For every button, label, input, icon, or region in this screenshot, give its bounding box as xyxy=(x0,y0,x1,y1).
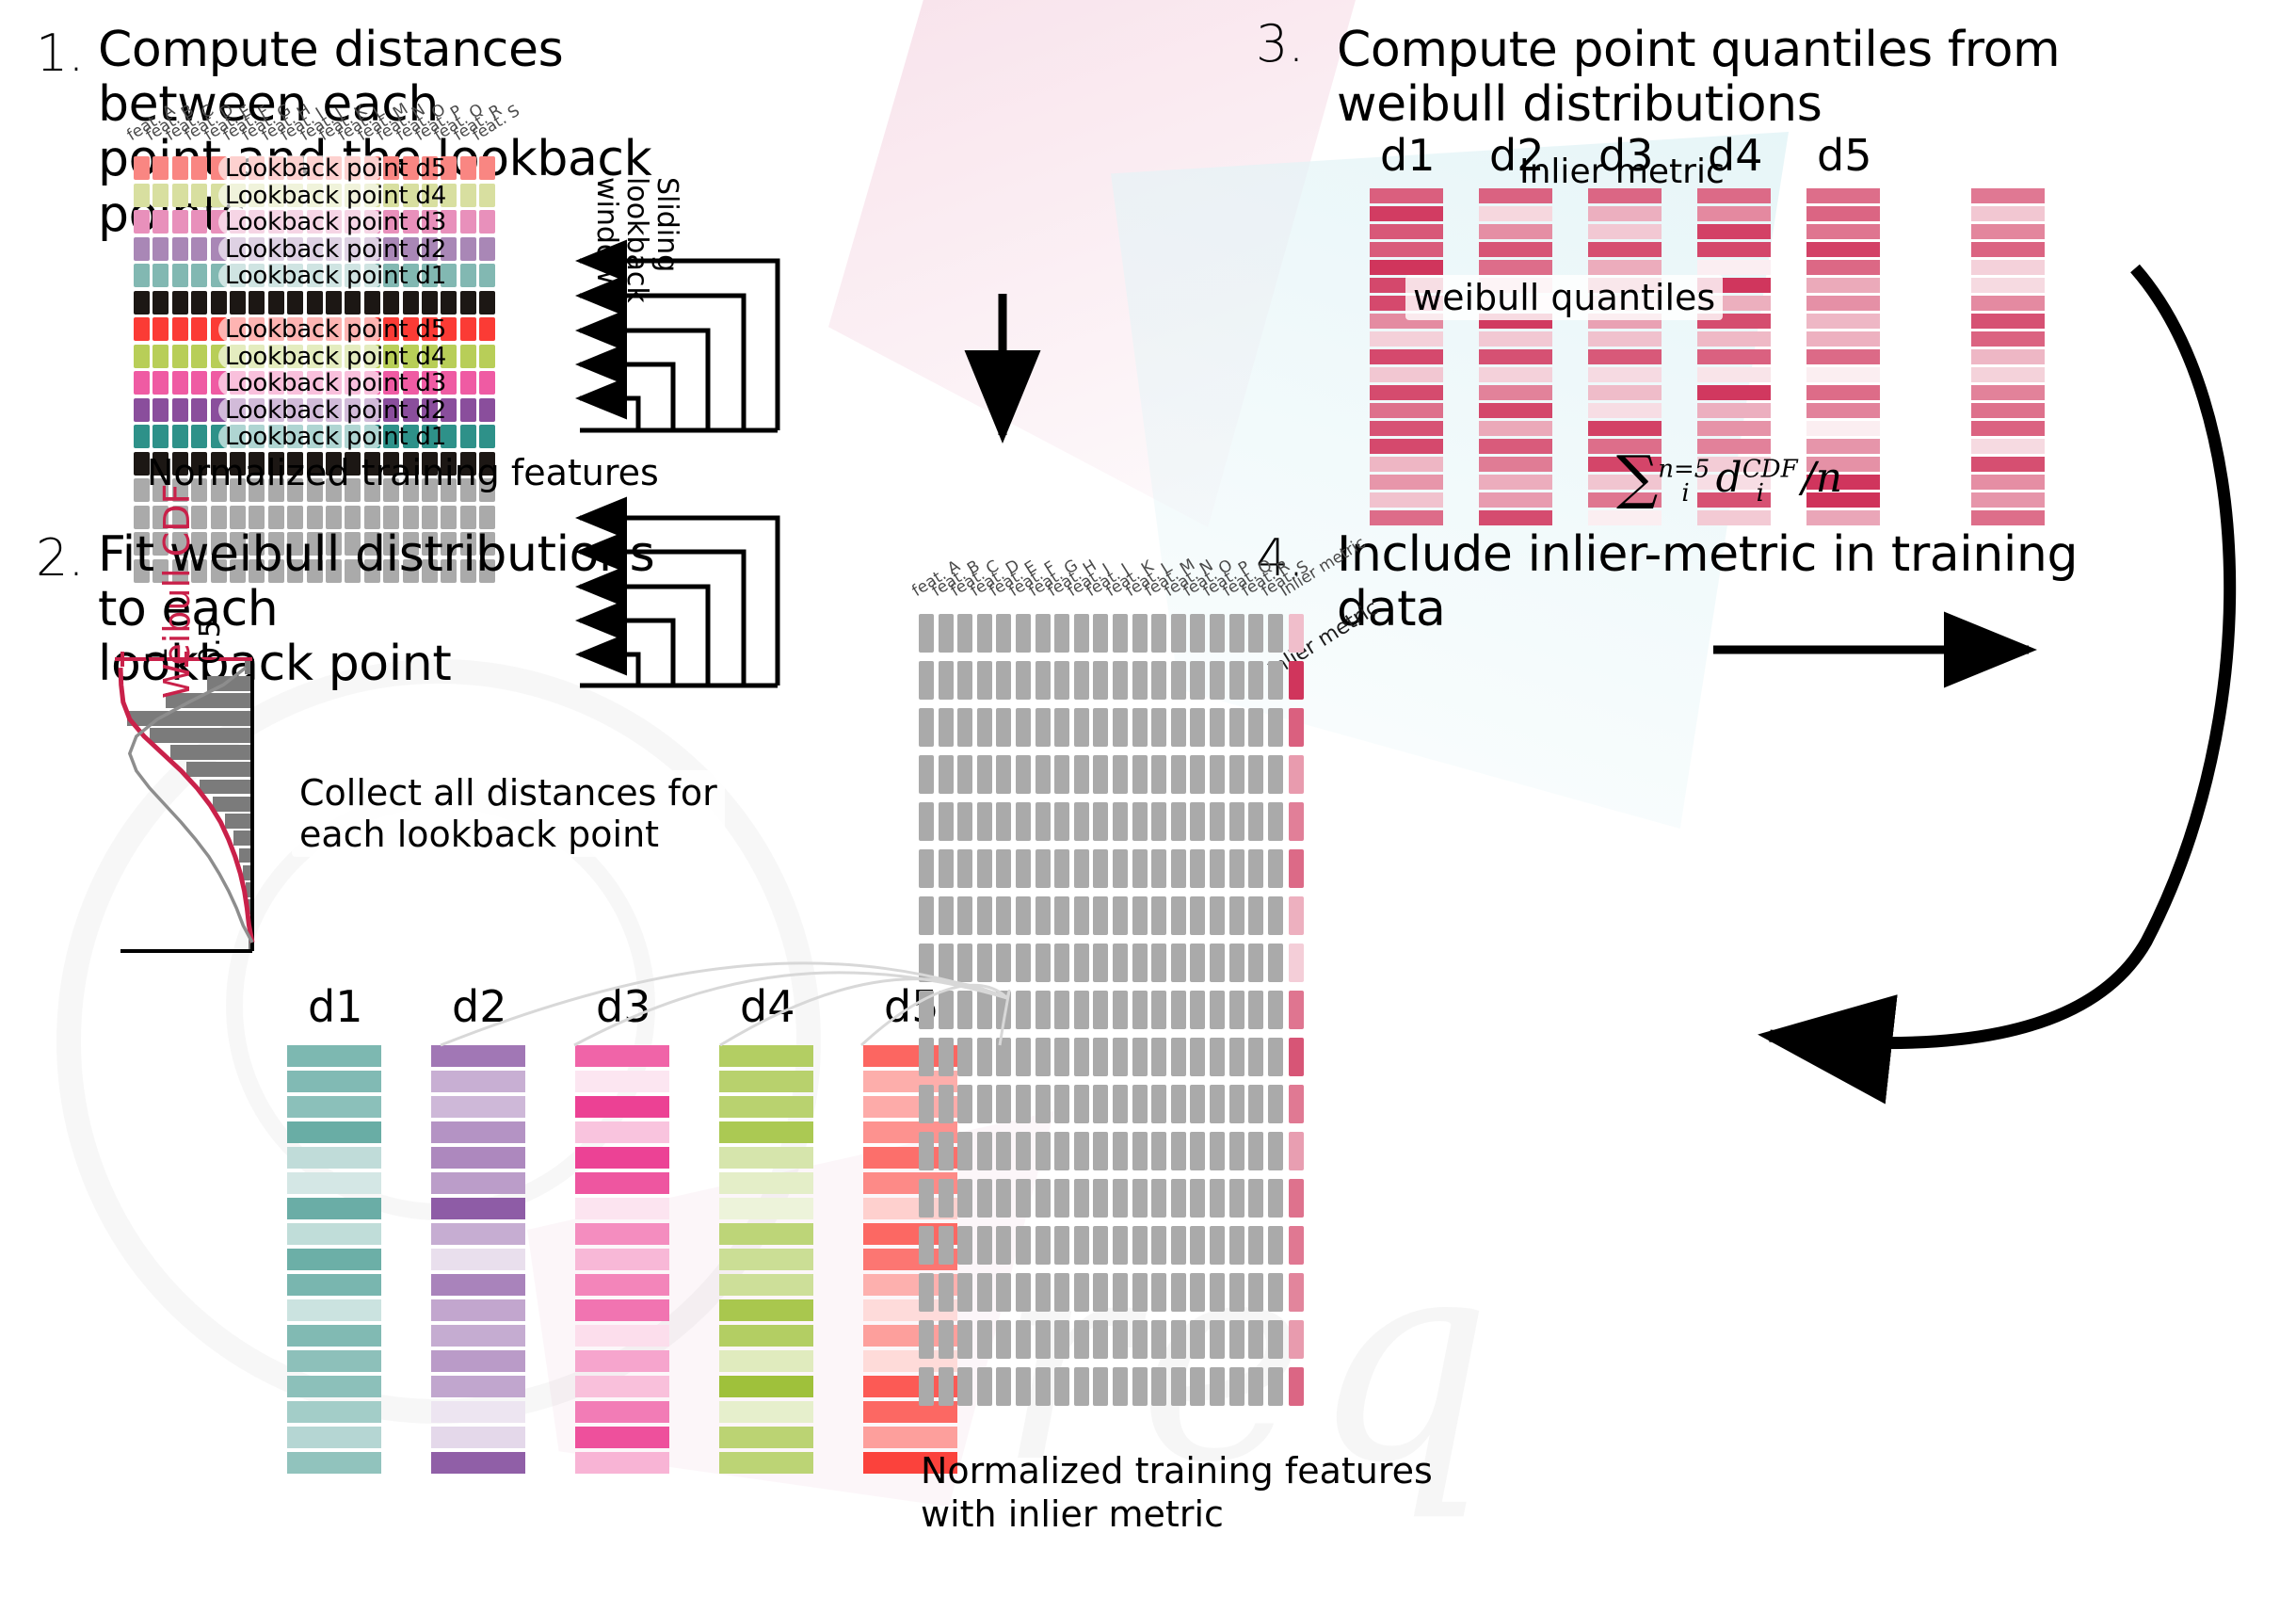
grid-cell xyxy=(996,708,1011,747)
distance-cell xyxy=(863,1427,957,1448)
distance-cell xyxy=(287,1121,381,1143)
grid-cell xyxy=(1268,1273,1283,1312)
quantile-cell xyxy=(1697,385,1771,400)
grid-cell xyxy=(977,614,992,653)
grid-cell xyxy=(957,708,972,747)
grid-cell xyxy=(919,991,934,1029)
grid-cell xyxy=(977,1132,992,1170)
grid-cell xyxy=(957,991,972,1029)
grid-cell xyxy=(1113,1320,1128,1359)
grid-cell xyxy=(939,1085,954,1123)
grid-cell xyxy=(460,264,476,287)
grid-cell xyxy=(1093,849,1108,888)
grid-cell xyxy=(919,944,934,982)
inlier-metric-cell xyxy=(1289,1226,1304,1265)
grid-cell xyxy=(1248,1179,1263,1218)
grid-cell xyxy=(191,425,207,448)
inlier-metric-cell xyxy=(1289,944,1304,982)
grid-cell xyxy=(1248,1038,1263,1076)
grid-cell xyxy=(957,614,972,653)
grid-cell xyxy=(1113,1038,1128,1076)
grid-cell xyxy=(939,1038,954,1076)
grid-cell xyxy=(1036,944,1051,982)
lookback-point-label: Lookback point d4 xyxy=(225,182,446,210)
grid-cell xyxy=(1074,661,1089,700)
grid-cell xyxy=(153,371,169,395)
panel4-feature-labels: feat. Afeat. Bfeat. Cfeat. Dfeat. Efeat.… xyxy=(919,542,1295,601)
distance-cell xyxy=(575,1427,669,1448)
quantile-cell xyxy=(1588,403,1662,418)
lookback-point-label: Lookback point d1 xyxy=(225,262,446,290)
grid-cell xyxy=(957,661,972,700)
grid-cell xyxy=(1268,944,1283,982)
lookback-point-label: Lookback point d4 xyxy=(225,343,446,371)
grid-cell xyxy=(211,291,227,315)
lookback-point-label: Lookback point d3 xyxy=(225,208,446,236)
grid-cell xyxy=(1190,614,1205,653)
grid-cell xyxy=(957,1085,972,1123)
grid-cell xyxy=(1113,1226,1128,1265)
grid-cell xyxy=(957,1226,972,1265)
grid-cell xyxy=(1093,1085,1108,1123)
grid-cell xyxy=(191,237,207,261)
grid-cell xyxy=(939,991,954,1029)
distance-cell xyxy=(575,1376,669,1397)
grid-cell xyxy=(939,944,954,982)
grid-cell xyxy=(1151,1085,1166,1123)
inlier-metric-cell xyxy=(1971,349,2045,364)
grid-cell xyxy=(1093,755,1108,794)
grid-cell xyxy=(1074,1226,1089,1265)
grid-cell xyxy=(939,1320,954,1359)
grid-cell xyxy=(1074,755,1089,794)
grid-cell xyxy=(996,1179,1011,1218)
grid-cell xyxy=(1113,944,1128,982)
grid-cell xyxy=(1036,661,1051,700)
grid-cell xyxy=(134,371,150,395)
grid-cell xyxy=(919,802,934,841)
grid-cell xyxy=(1229,1226,1244,1265)
grid-cell xyxy=(996,849,1011,888)
grid-cell xyxy=(1171,1273,1186,1312)
grid-cell xyxy=(939,1273,954,1312)
grid-cell xyxy=(460,237,476,261)
grid-cell xyxy=(996,1367,1011,1406)
grid-cell xyxy=(1093,1273,1108,1312)
grid-cell xyxy=(1054,1132,1069,1170)
distance-cell xyxy=(431,1121,525,1143)
grid-cell xyxy=(1132,1132,1148,1170)
grid-cell xyxy=(1132,896,1148,935)
grid-cell xyxy=(134,237,150,261)
step-4-title: Include inlier-metric in training data xyxy=(1337,527,2165,637)
inlier-metric-cell xyxy=(1971,367,2045,382)
grid-cell xyxy=(1229,1273,1244,1312)
lookback-point-label: Lookback point d2 xyxy=(225,396,446,425)
distance-cell xyxy=(287,1350,381,1372)
grid-cell xyxy=(1054,614,1069,653)
grid-cell xyxy=(1248,1132,1263,1170)
quantile-cell xyxy=(1370,188,1443,203)
distance-cell xyxy=(575,1172,669,1194)
cdf-tick-0-5: 0.5 xyxy=(194,620,227,665)
grid-cell xyxy=(1093,1132,1108,1170)
grid-cell xyxy=(1016,1179,1031,1218)
grid-cell xyxy=(1190,991,1205,1029)
grid-cell xyxy=(919,708,934,747)
distance-cell xyxy=(575,1198,669,1219)
grid-cell xyxy=(1229,1038,1244,1076)
grid-cell xyxy=(1132,1273,1148,1312)
grid-cell xyxy=(1074,991,1089,1029)
grid-cell xyxy=(919,1273,934,1312)
quantile-cell xyxy=(1370,349,1443,364)
grid-cell xyxy=(479,237,495,261)
grid-cell xyxy=(1074,1132,1089,1170)
grid-cell xyxy=(1016,1226,1031,1265)
grid-cell xyxy=(153,345,169,368)
grid-cell xyxy=(422,506,438,529)
grid-cell xyxy=(1054,802,1069,841)
panel2-overlay-text: Collect all distances for each lookback … xyxy=(292,770,725,857)
quantile-cell xyxy=(1370,224,1443,239)
grid-cell xyxy=(1016,991,1031,1029)
distance-cell xyxy=(431,1198,525,1219)
grid-cell xyxy=(326,506,342,529)
distance-cell xyxy=(431,1071,525,1092)
grid-cell xyxy=(1210,708,1225,747)
grid-cell xyxy=(1210,755,1225,794)
grid-cell xyxy=(1074,1320,1089,1359)
grid-cell xyxy=(996,755,1011,794)
grid-cell xyxy=(1132,802,1148,841)
grid-cell xyxy=(1016,614,1031,653)
grid-cell xyxy=(1093,1367,1108,1406)
grid-cell xyxy=(1248,944,1263,982)
grid-cell xyxy=(1151,1179,1166,1218)
formula-sup: CDF xyxy=(1742,455,1798,483)
inlier-metric-cell xyxy=(1289,661,1304,700)
distance-cell xyxy=(287,1376,381,1397)
grid-cell xyxy=(1016,1085,1031,1123)
grid-cell xyxy=(1229,1367,1244,1406)
inlier-metric-cell xyxy=(1289,849,1304,888)
grid-cell xyxy=(1190,802,1205,841)
grid-cell xyxy=(1268,849,1283,888)
grid-cell xyxy=(422,291,438,315)
lookback-point-label: Lookback point d5 xyxy=(225,315,446,344)
distance-cell xyxy=(719,1401,813,1423)
quantile-cell xyxy=(1806,188,1880,203)
grid-cell xyxy=(1016,944,1031,982)
grid-cell xyxy=(977,661,992,700)
grid-cell xyxy=(1036,1273,1051,1312)
lookback-point-label: Lookback point d3 xyxy=(225,369,446,397)
distance-cell xyxy=(575,1045,669,1067)
grid-cell xyxy=(153,264,169,287)
grid-cell xyxy=(191,398,207,422)
grid-cell xyxy=(1016,1320,1031,1359)
distance-cell xyxy=(287,1172,381,1194)
grid-cell xyxy=(172,398,188,422)
distance-cell xyxy=(431,1376,525,1397)
distance-cell xyxy=(431,1325,525,1347)
distance-cell xyxy=(719,1045,813,1067)
grid-cell xyxy=(1171,1226,1186,1265)
quantile-cell xyxy=(1479,367,1552,382)
grid-cell xyxy=(996,1273,1011,1312)
grid-cell xyxy=(1190,1226,1205,1265)
grid-cell xyxy=(1113,896,1128,935)
inlier-metric-cell xyxy=(1971,188,2045,203)
grid-cell xyxy=(1229,1085,1244,1123)
quantile-column-label: d1 xyxy=(1380,130,1435,181)
grid-cell xyxy=(957,1320,972,1359)
grid-cell xyxy=(1036,991,1051,1029)
distance-cell xyxy=(719,1427,813,1448)
grid-cell xyxy=(1210,1367,1225,1406)
grid-cell xyxy=(1093,1179,1108,1218)
quantile-cell xyxy=(1370,457,1443,472)
grid-cell xyxy=(134,184,150,207)
grid-cell xyxy=(191,264,207,287)
grid-cell xyxy=(1210,991,1225,1029)
distance-cell xyxy=(719,1376,813,1397)
grid-cell xyxy=(1229,1132,1244,1170)
grid-cell xyxy=(1054,1367,1069,1406)
distance-cell xyxy=(575,1350,669,1372)
grid-cell xyxy=(479,291,495,315)
formula-sub: i xyxy=(1757,479,1764,508)
grid-cell xyxy=(345,506,361,529)
grid-cell xyxy=(479,184,495,207)
grid-cell xyxy=(1113,802,1128,841)
grid-cell xyxy=(1132,991,1148,1029)
grid-cell xyxy=(1151,1320,1166,1359)
grid-cell xyxy=(1036,1367,1051,1406)
grid-cell xyxy=(479,264,495,287)
grid-cell xyxy=(919,661,934,700)
grid-cell xyxy=(957,1038,972,1076)
sum-lower: i xyxy=(1681,479,1689,508)
grid-cell xyxy=(957,1132,972,1170)
grid-cell xyxy=(1074,802,1089,841)
grid-cell xyxy=(1036,1085,1051,1123)
inlier-metric-cell xyxy=(1971,421,2045,436)
grid-cell xyxy=(919,1179,934,1218)
grid-cell xyxy=(1054,1226,1069,1265)
grid-cell xyxy=(172,237,188,261)
grid-cell xyxy=(939,849,954,888)
grid-cell xyxy=(1054,849,1069,888)
grid-cell xyxy=(1113,755,1128,794)
panel3-overlay-text: weibull quantiles xyxy=(1405,275,1723,320)
quantile-cell xyxy=(1370,510,1443,525)
grid-cell xyxy=(996,614,1011,653)
grid-cell xyxy=(1151,661,1166,700)
grid-cell xyxy=(172,156,188,180)
inlier-metric-cell xyxy=(1971,278,2045,293)
grid-cell xyxy=(957,944,972,982)
grid-cell xyxy=(1248,849,1263,888)
grid-cell xyxy=(1171,661,1186,700)
grid-cell xyxy=(134,345,150,368)
grid-cell xyxy=(1268,802,1283,841)
grid-cell xyxy=(460,371,476,395)
quantile-cell xyxy=(1370,403,1443,418)
grid-cell xyxy=(153,317,169,341)
grid-cell xyxy=(326,291,342,315)
grid-cell xyxy=(1016,1038,1031,1076)
grid-cell xyxy=(460,210,476,234)
grid-cell xyxy=(1074,849,1089,888)
inlier-metric-cell xyxy=(1971,242,2045,257)
grid-cell xyxy=(1229,1320,1244,1359)
grid-cell xyxy=(1171,849,1186,888)
distance-cell xyxy=(431,1350,525,1372)
quantile-cell xyxy=(1806,242,1880,257)
grid-cell xyxy=(287,291,303,315)
grid-cell xyxy=(1229,896,1244,935)
distance-column-label: d1 xyxy=(308,981,362,1032)
grid-cell xyxy=(957,802,972,841)
quantile-cell xyxy=(1370,206,1443,221)
distance-cell xyxy=(287,1427,381,1448)
grid-cell xyxy=(1036,755,1051,794)
grid-cell xyxy=(919,1226,934,1265)
grid-cell xyxy=(230,291,246,315)
inlier-metric-cell xyxy=(1289,1367,1304,1406)
distance-cell xyxy=(287,1249,381,1270)
grid-cell xyxy=(1229,614,1244,653)
quantile-cell xyxy=(1806,331,1880,347)
distance-column-label: d4 xyxy=(740,981,795,1032)
grid-cell xyxy=(1093,614,1108,653)
grid-cell xyxy=(1229,1179,1244,1218)
grid-cell xyxy=(1190,1179,1205,1218)
grid-cell xyxy=(1248,661,1263,700)
inlier-metric-cell xyxy=(1971,403,2045,418)
grid-cell xyxy=(1074,1038,1089,1076)
grid-cell xyxy=(383,291,399,315)
quantile-cell xyxy=(1479,260,1552,275)
panel3-inlier-header: Inlier metric xyxy=(1519,153,1725,191)
grid-cell xyxy=(1113,708,1128,747)
grid-cell xyxy=(1210,614,1225,653)
grid-cell xyxy=(249,291,265,315)
grid-cell xyxy=(1268,1320,1283,1359)
cdf-axes xyxy=(120,646,281,970)
distance-cell xyxy=(287,1223,381,1245)
grid-cell xyxy=(460,156,476,180)
grid-cell xyxy=(134,210,150,234)
grid-cell xyxy=(1171,755,1186,794)
inlier-metric-cell xyxy=(1971,492,2045,508)
grid-cell xyxy=(1151,1273,1166,1312)
grid-cell xyxy=(191,371,207,395)
grid-cell xyxy=(977,1367,992,1406)
quantile-cell xyxy=(1479,331,1552,347)
grid-cell xyxy=(1054,944,1069,982)
grid-cell xyxy=(1151,896,1166,935)
grid-cell xyxy=(1132,1085,1148,1123)
distance-cell xyxy=(575,1249,669,1270)
grid-cell xyxy=(172,317,188,341)
inlier-metric-cell xyxy=(1289,802,1304,841)
distance-cell xyxy=(719,1096,813,1118)
grid-cell xyxy=(287,506,303,529)
grid-cell xyxy=(1036,802,1051,841)
distance-cell xyxy=(431,1427,525,1448)
quantile-cell xyxy=(1806,314,1880,329)
grid-cell xyxy=(1248,1320,1263,1359)
grid-cell xyxy=(1074,614,1089,653)
grid-cell xyxy=(996,1038,1011,1076)
grid-cell xyxy=(153,291,169,315)
quantile-cell xyxy=(1479,457,1552,472)
grid-cell xyxy=(1210,1273,1225,1312)
grid-cell xyxy=(1016,708,1031,747)
grid-cell xyxy=(134,264,150,287)
grid-cell xyxy=(1248,755,1263,794)
distance-cell xyxy=(287,1198,381,1219)
grid-cell xyxy=(939,1367,954,1406)
grid-cell xyxy=(153,398,169,422)
grid-cell xyxy=(1016,896,1031,935)
grid-cell xyxy=(1036,614,1051,653)
grid-cell xyxy=(977,708,992,747)
distance-cell xyxy=(431,1299,525,1321)
grid-cell xyxy=(1151,614,1166,653)
grid-cell xyxy=(1054,661,1069,700)
grid-cell xyxy=(1132,614,1148,653)
grid-cell xyxy=(1093,1038,1108,1076)
distance-cell xyxy=(719,1299,813,1321)
quantile-cell xyxy=(1697,331,1771,347)
grid-cell xyxy=(939,1179,954,1218)
inlier-metric-cell xyxy=(1289,1320,1304,1359)
grid-cell xyxy=(1190,1320,1205,1359)
grid-cell xyxy=(1268,896,1283,935)
grid-cell xyxy=(1151,1132,1166,1170)
grid-cell xyxy=(977,1273,992,1312)
inlier-metric-cell xyxy=(1971,510,2045,525)
grid-cell xyxy=(134,291,150,315)
grid-cell xyxy=(939,661,954,700)
grid-cell xyxy=(1113,991,1128,1029)
grid-cell xyxy=(1093,661,1108,700)
quantile-cell xyxy=(1588,224,1662,239)
grid-cell xyxy=(1248,802,1263,841)
grid-cell xyxy=(977,944,992,982)
distance-cell xyxy=(431,1096,525,1118)
grid-cell xyxy=(1248,896,1263,935)
lookback-point-label: Lookback point d1 xyxy=(225,423,446,451)
grid-cell xyxy=(996,1226,1011,1265)
grid-cell xyxy=(977,991,992,1029)
grid-cell xyxy=(153,210,169,234)
grid-cell xyxy=(996,1132,1011,1170)
grid-cell xyxy=(1229,708,1244,747)
grid-cell xyxy=(1074,1085,1089,1123)
grid-cell xyxy=(134,156,150,180)
grid-cell xyxy=(939,1226,954,1265)
step-3-title: Compute point quantiles from weibull dis… xyxy=(1337,23,2146,132)
grid-cell xyxy=(1229,661,1244,700)
quantile-cell xyxy=(1588,510,1662,525)
grid-cell xyxy=(307,291,323,315)
quantile-cell xyxy=(1479,224,1552,239)
